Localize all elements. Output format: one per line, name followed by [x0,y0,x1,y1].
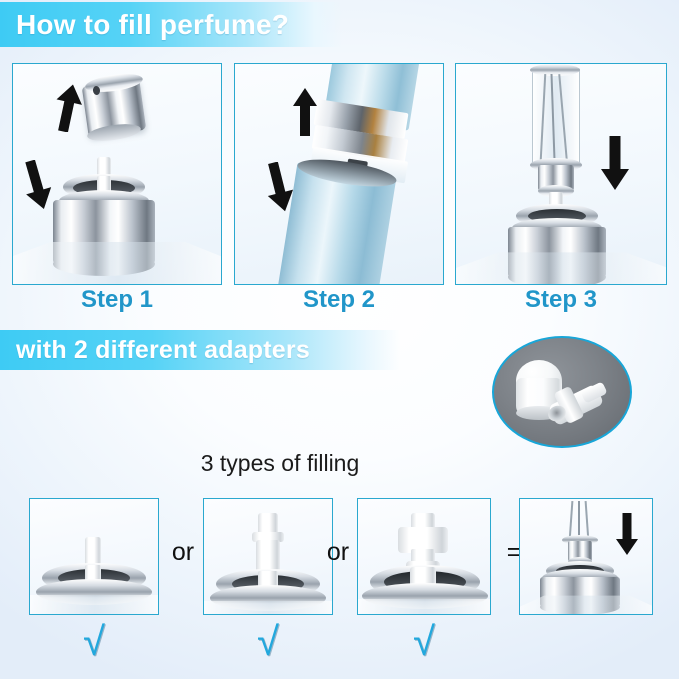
glass-bottle [204,601,333,615]
types-caption: 3 types of filling [0,450,560,477]
arrow-down-icon [614,513,640,555]
arrow-up-icon [53,84,83,132]
step-1-label: Step 1 [11,286,223,314]
top-banner-text: How to fill perfume? [16,9,289,41]
glass-bottle [358,599,491,615]
filling-type-2-image [203,498,333,615]
filling-type-1-image [29,498,159,615]
middle-banner-text: with 2 different adapters [16,336,310,365]
check-icon-1: √ [29,622,159,662]
step-3-image [455,63,667,285]
top-banner: How to fill perfume? [0,2,342,47]
arrow-down-icon [21,160,53,210]
middle-banner: with 2 different adapters [0,330,400,370]
step-1-image [12,63,222,285]
arrow-down-icon [263,162,295,212]
step-2-image [234,63,444,285]
filling-type-3-image [357,498,491,615]
glass-bottle [30,595,159,615]
atomizer-tube-top-ring [530,64,580,76]
adapters-photo [492,336,632,448]
arrow-up-icon [291,88,319,136]
step-3-label: Step 3 [455,286,667,314]
connector-or-2: or [318,538,358,567]
glass-bottle [13,236,222,285]
step-2-label: Step 2 [233,286,445,314]
arrow-down-icon [598,136,632,190]
check-icon-3: √ [357,622,491,662]
connector-or-1: or [163,538,203,567]
check-icon-2: √ [203,622,333,662]
infographic-stage: How to fill perfume? Step 1 [0,0,679,679]
filling-result-image [519,498,653,615]
